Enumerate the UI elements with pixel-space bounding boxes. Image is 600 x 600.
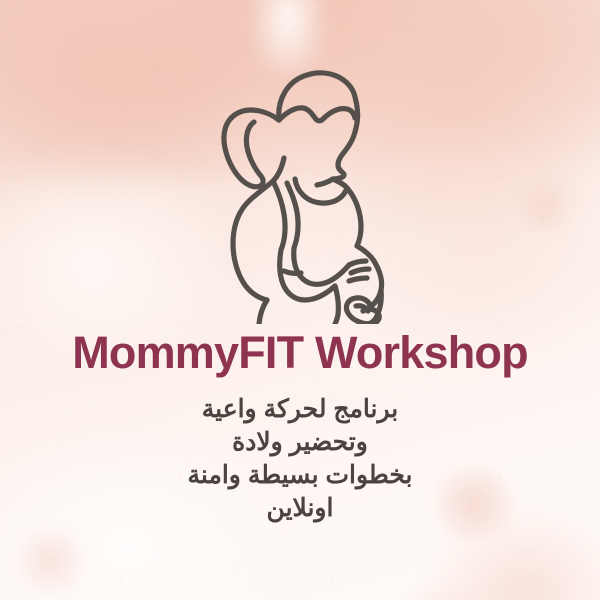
subtitle-line-1: برنامج لحركة واعية	[0, 393, 600, 426]
poster-canvas: MommyFIT Workshop برنامج لحركة واعية وتح…	[0, 0, 600, 600]
watercolor-bloom-left	[12, 528, 90, 594]
hip-front-line	[335, 286, 338, 324]
pregnant-woman-illustration	[183, 62, 401, 324]
head-and-face-outline	[279, 73, 358, 179]
subtitle-line-2: وتحضير ولادة	[0, 426, 600, 459]
ponytail	[224, 110, 279, 187]
hand-fingers	[349, 261, 366, 265]
tanktop-strap-back	[273, 181, 285, 250]
poster-text-block: MommyFIT Workshop برنامج لحركة واعية وتح…	[0, 330, 600, 525]
hand-finger-3	[349, 278, 367, 281]
subtitle-block: برنامج لحركة واعية وتحضير ولادة بخطوات ب…	[0, 393, 600, 525]
subtitle-line-3: بخطوات بسيطة وامنة	[0, 459, 600, 492]
watercolor-bloom-upper	[516, 180, 576, 234]
hair-fringe	[279, 108, 355, 121]
hip-back-line	[259, 300, 267, 324]
hand-finger-2	[351, 269, 369, 273]
page-title: MommyFIT Workshop	[0, 330, 600, 375]
forearm-to-hand	[294, 248, 349, 284]
subtitle-line-4: اونلاين	[0, 492, 600, 525]
elbow-crease	[284, 271, 301, 273]
tanktop-strap-front	[287, 183, 298, 248]
shoulder-front	[333, 179, 347, 188]
bust-and-chest-curve	[347, 188, 361, 246]
